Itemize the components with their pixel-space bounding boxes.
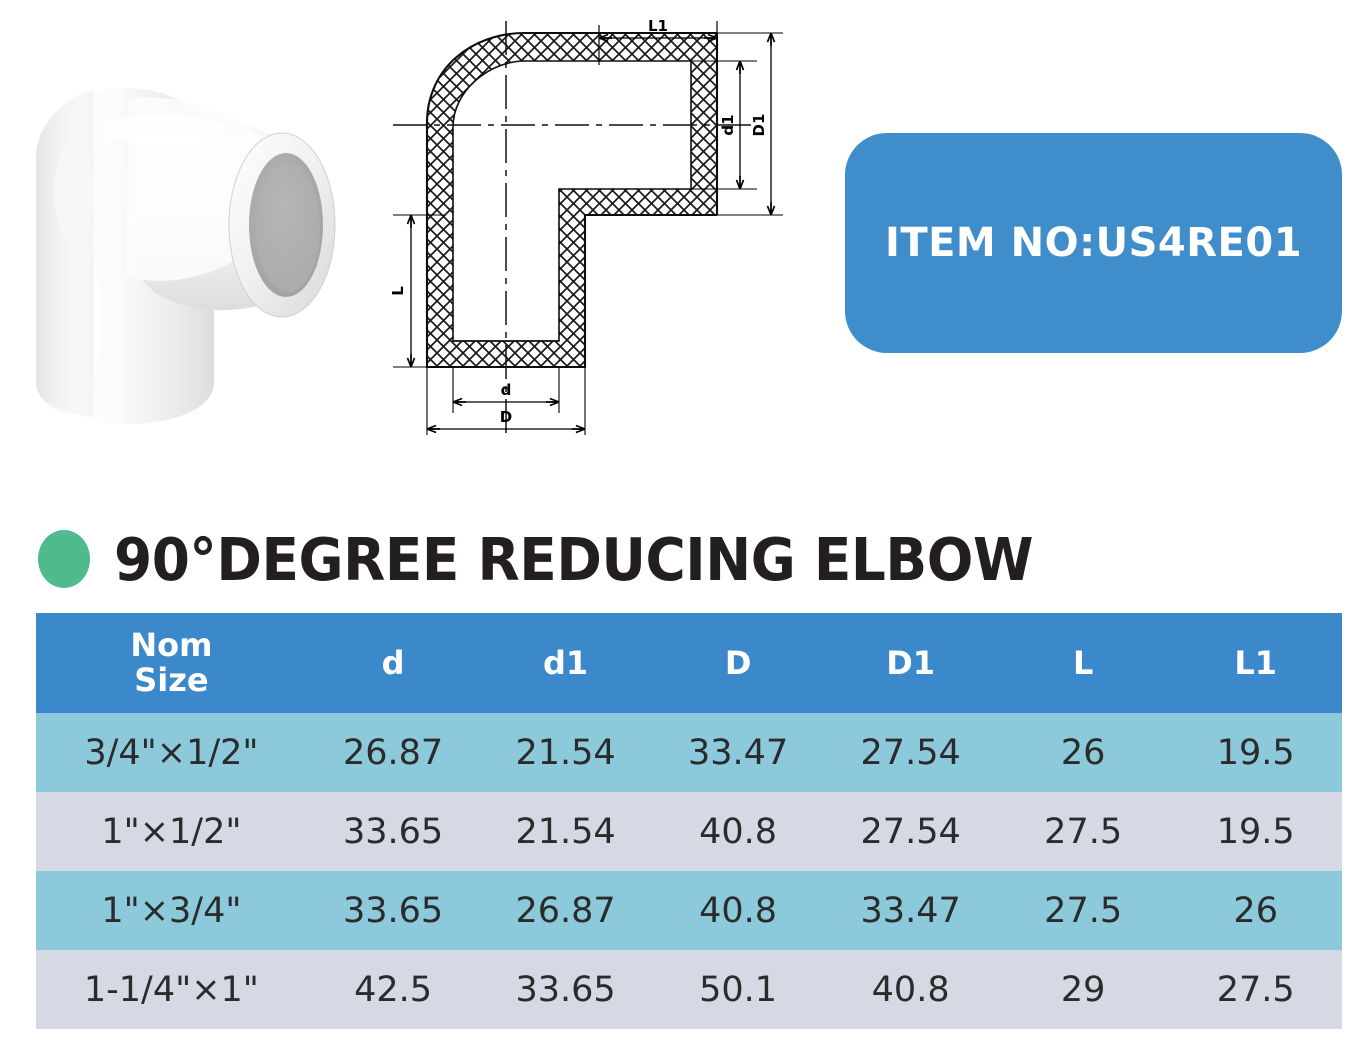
dim-label-d: d [501, 381, 512, 399]
cell-nom-size: 1"×1/2" [36, 792, 307, 871]
cell-d: 33.65 [307, 871, 480, 950]
cell-d1: 26.87 [479, 871, 652, 950]
column-header-d1: d1 [479, 613, 652, 713]
technical-drawing: L1 d1 D1 L d D [385, 15, 805, 445]
elbow-photo-svg [14, 52, 344, 442]
wall-hatching [385, 15, 805, 445]
cell-D: 50.1 [652, 950, 825, 1029]
cell-L: 27.5 [997, 792, 1170, 871]
column-header-nom-size: Nom Size [36, 613, 307, 713]
dim-label-D1: D1 [750, 114, 768, 137]
arm-highlight [102, 114, 226, 146]
dim-label-L: L [389, 286, 407, 296]
cell-L: 27.5 [997, 871, 1170, 950]
cell-L1: 27.5 [1169, 950, 1342, 1029]
dim-label-d1: d1 [719, 114, 737, 135]
cell-L1: 19.5 [1169, 713, 1342, 792]
nom-size-line1: Nom [130, 626, 212, 664]
body-shade-left [36, 90, 94, 418]
cell-D: 40.8 [652, 792, 825, 871]
table-header: Nom Size d d1 D D1 L L1 [36, 613, 1342, 713]
top-section: L1 d1 D1 L d D ITEM NO [0, 0, 1372, 500]
column-header-L: L [997, 613, 1170, 713]
column-header-L1: L1 [1169, 613, 1342, 713]
table-header-row: Nom Size d d1 D D1 L L1 [36, 613, 1342, 713]
cell-d: 33.65 [307, 792, 480, 871]
section-title-row: 90°DEGREE REDUCING ELBOW [0, 516, 1372, 602]
page-title: 90°DEGREE REDUCING ELBOW [114, 525, 1033, 594]
table-body: 3/4"×1/2" 26.87 21.54 33.47 27.54 26 19.… [36, 713, 1342, 1029]
cell-L1: 26 [1169, 871, 1342, 950]
cell-d: 26.87 [307, 713, 480, 792]
cell-L: 26 [997, 713, 1170, 792]
cell-d1: 33.65 [479, 950, 652, 1029]
table-row: 1"×3/4" 33.65 26.87 40.8 33.47 27.5 26 [36, 871, 1342, 950]
cell-L: 29 [997, 950, 1170, 1029]
dim-label-D: D [500, 408, 512, 426]
table-row: 1-1/4"×1" 42.5 33.65 50.1 40.8 29 27.5 [36, 950, 1342, 1029]
column-header-D: D [652, 613, 825, 713]
nom-size-line2: Size [134, 661, 208, 699]
table-row: 3/4"×1/2" 26.87 21.54 33.47 27.54 26 19.… [36, 713, 1342, 792]
item-no-badge: ITEM NO:US4RE01 [845, 133, 1342, 353]
cell-D: 33.47 [652, 713, 825, 792]
cell-d1: 21.54 [479, 792, 652, 871]
cell-nom-size: 1-1/4"×1" [36, 950, 307, 1029]
item-no-label: ITEM NO:US4RE01 [885, 220, 1302, 266]
cell-D1: 27.54 [824, 792, 997, 871]
cell-D1: 33.47 [824, 871, 997, 950]
cell-d: 42.5 [307, 950, 480, 1029]
cell-nom-size: 1"×3/4" [36, 871, 307, 950]
column-header-D1: D1 [824, 613, 997, 713]
table-row: 1"×1/2" 33.65 21.54 40.8 27.54 27.5 19.5 [36, 792, 1342, 871]
cell-D1: 40.8 [824, 950, 997, 1029]
cell-D: 40.8 [652, 871, 825, 950]
cell-d1: 21.54 [479, 713, 652, 792]
cell-nom-size: 3/4"×1/2" [36, 713, 307, 792]
elbow-section-drawing: L1 d1 D1 L d D [385, 15, 805, 445]
cell-L1: 19.5 [1169, 792, 1342, 871]
product-photo [14, 52, 344, 442]
dim-label-l1: L1 [648, 17, 668, 35]
specification-table: Nom Size d d1 D D1 L L1 3/4"×1/2" 26.87 … [36, 613, 1342, 1029]
cell-D1: 27.54 [824, 713, 997, 792]
column-header-d: d [307, 613, 480, 713]
bullet-icon [38, 530, 90, 588]
socket-bore-inner [256, 164, 320, 292]
